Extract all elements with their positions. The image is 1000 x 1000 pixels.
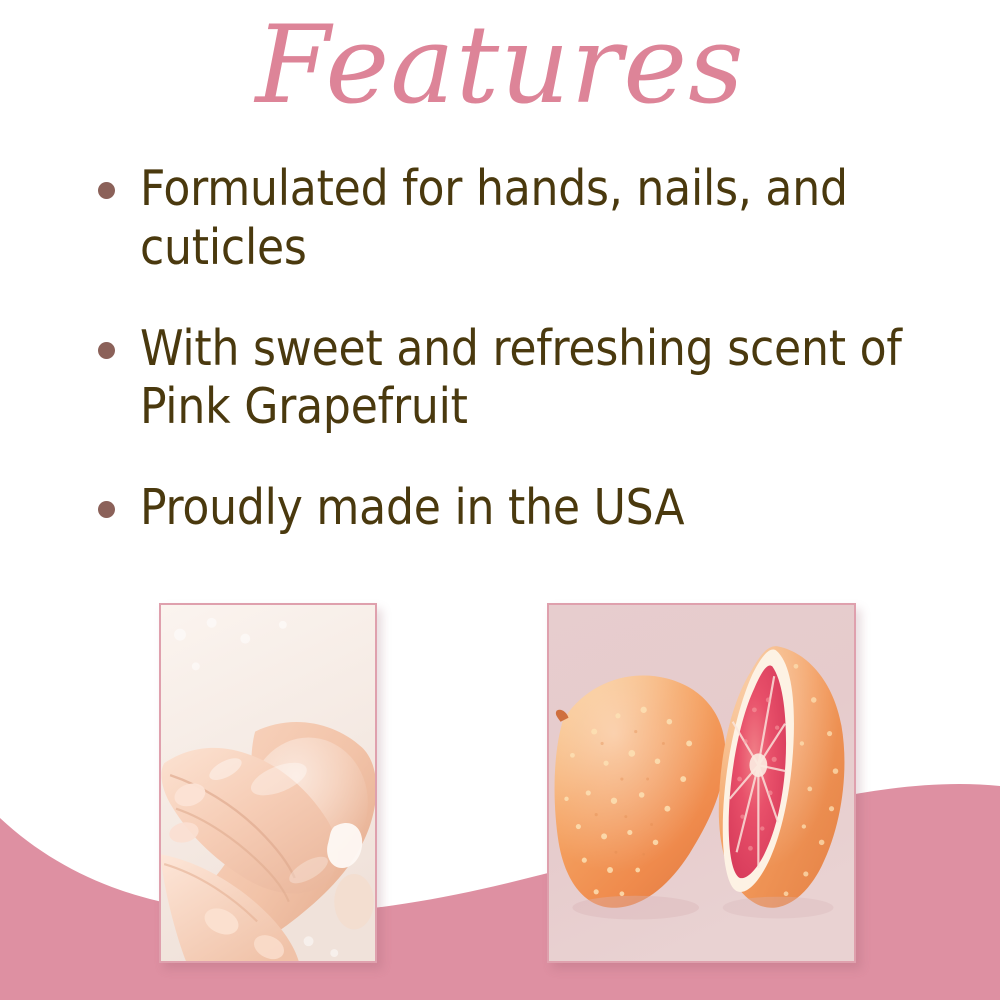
list-item: Formulated for hands, nails, and cuticle… [88, 160, 918, 278]
bullet-icon [98, 501, 115, 518]
feature-panel: Features Formulated for hands, nails, an… [0, 0, 1000, 1000]
bullet-icon [98, 182, 115, 199]
feature-text: With sweet and refreshing scent of Pink … [140, 320, 918, 438]
features-list: Formulated for hands, nails, and cuticle… [88, 160, 918, 538]
list-item: Proudly made in the USA [88, 479, 918, 538]
grapefruit-photo [547, 603, 856, 963]
hands-lotion-photo [159, 603, 377, 963]
feature-text: Proudly made in the USA [140, 479, 918, 538]
list-item: With sweet and refreshing scent of Pink … [88, 320, 918, 438]
page-title: Features [0, 8, 1000, 125]
bullet-icon [98, 342, 115, 359]
feature-text: Formulated for hands, nails, and cuticle… [140, 160, 918, 278]
